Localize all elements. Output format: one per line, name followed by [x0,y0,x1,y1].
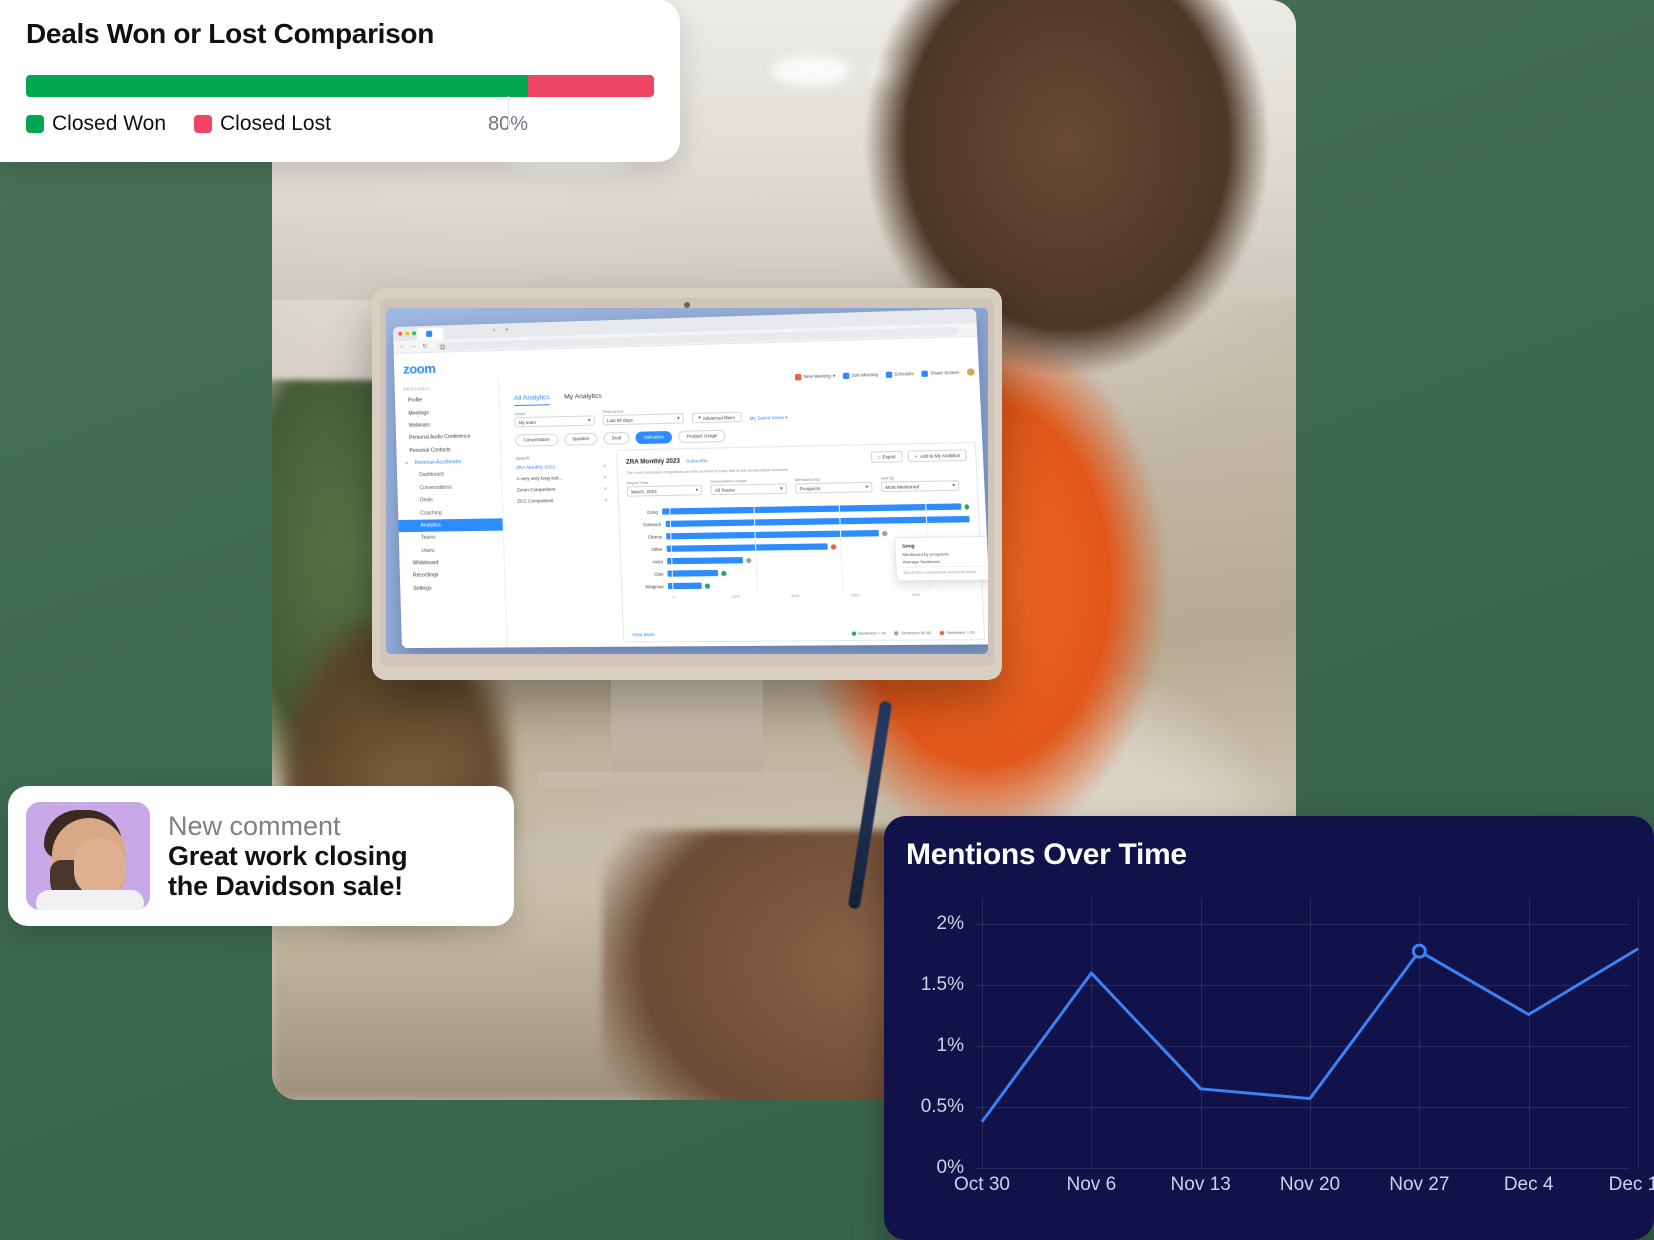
schedule-button[interactable]: Schedule [885,370,914,377]
search-item-zra-monthly[interactable]: ZRA Monthly 2023 ✕ [516,463,611,470]
search-item-label: ZCC Competitors [517,498,553,504]
chevron-down-icon: ▾ [677,415,680,421]
bar-label: Wingman [630,583,668,589]
closed-won-segment [26,75,528,97]
search-item-label: A very very long indi... [516,475,562,481]
sentiment-dot [964,504,969,509]
minimize-icon[interactable] [405,331,409,335]
search-heading: Search [516,454,611,461]
report-time-value: March, 2023 [631,488,657,494]
subscribe-button[interactable]: Subscribe [686,458,708,464]
legend-label: Sentiment < 40 [858,631,886,635]
calendar-icon [885,371,892,377]
sidebar-item-recordings[interactable]: Recordings [400,569,505,583]
sort-by-select[interactable]: Most Mentioned ▾ [881,480,960,492]
xtick: 30% [851,593,912,598]
share-screen-button[interactable]: Share Screen [921,369,959,376]
mentions-plot: 0%0.5%1%1.5%2% Oct 30Nov 6Nov 13Nov 20No… [906,898,1636,1208]
deals-legend: Closed Won Closed Lost 80% [26,112,654,136]
comment-line-2: the Davidson sale! [168,871,407,901]
monitor: × + ← → ↻ zoom PERSONAL Pr [372,288,1002,680]
advanced-filters-button[interactable]: ▾ Advanced filters [692,412,741,423]
zoom-logo: zoom [403,361,436,377]
mentions-over-time-card: Mentions Over Time 0%0.5%1%1.5%2% Oct 30… [884,816,1654,1240]
search-item-long[interactable]: A very very long indi... ✕ [516,474,611,481]
export-icon: □ [878,454,881,459]
conversation-scope-filter: Conversation Scope All Teams ▾ [710,478,787,495]
bar-label: Clari [630,571,668,577]
legend-item: Sentiment > 60 [940,630,975,635]
chevron-down-icon: ▾ [780,486,783,492]
tooltip-row-mentioned: Mentioned by prospects 37% [902,550,988,557]
search-item-label: Zoom Competitors [517,487,556,493]
filter-icon: ▾ [698,415,701,421]
close-icon[interactable]: ✕ [604,486,608,491]
bar-tooltip: Gong Mentioned by prospects 37% Average … [894,535,988,581]
legend-label-won: Closed Won [52,112,166,136]
lock-icon [440,344,444,349]
deals-tick-line [508,96,509,136]
plus-icon [843,372,850,378]
window-controls[interactable] [398,331,416,336]
tooltip-row-sentiment: Average Sentiment 85 [903,558,988,565]
y-tick-label: 1% [937,1035,964,1057]
my-saved-views-button[interactable]: My Saved Views ▾ [750,415,788,422]
time-period-filter: Time period Last 90 days ▾ [602,408,684,425]
chip-product-usage[interactable]: Product Usage [678,430,726,443]
time-period-value: Last 90 days [607,417,633,423]
highlighted-data-point[interactable] [1413,945,1425,957]
report-time-select[interactable]: March, 2023 ▾ [627,485,703,497]
star-icon: ★ [914,454,918,459]
legend-item: Sentiment 40-60 [894,630,931,635]
tab-close-icon[interactable]: × [492,328,495,334]
x-tick-label: Nov 27 [1389,1174,1449,1196]
chip-speaker[interactable]: Speaker [564,433,598,446]
y-tick-label: 2% [937,913,964,935]
sidebar: PERSONAL Profile Meetings Webinars Perso… [395,379,508,648]
x-tick-label: Dec 4 [1504,1174,1554,1196]
x-tick-label: Nov 20 [1280,1174,1340,1196]
sentiment-dot [721,570,726,575]
my-saved-views-label: My Saved Views [750,415,784,421]
chevron-down-icon: ▾ [866,484,869,490]
app-topbar: New Meeting ▾ Join Meeting Schedule [795,368,975,380]
export-label: Export [882,454,895,460]
x-axis-labels: Oct 30Nov 6Nov 13Nov 20Nov 27Dec 4Dec 11 [976,1174,1630,1204]
tab-favicon [426,331,432,337]
comment-line-1: Great work closing [168,841,407,871]
bar-chart-xaxis: 0 10% 20% 30% 40% [673,592,974,599]
report-time-filter: Report Time March, 2023 ▾ [627,480,703,497]
export-button[interactable]: □ Export [871,451,902,463]
chip-indicators[interactable]: Indicators [636,431,673,444]
mentioned-by-select[interactable]: Prospects ▾ [795,482,873,494]
legend-label: Sentiment 40-60 [901,630,932,634]
avatar [26,802,150,910]
competitor-bar-chart: Gong Outreach Chorus [628,500,974,605]
x-tick-label: Oct 30 [954,1174,1010,1196]
new-tab-icon[interactable]: + [505,326,509,333]
sentiment-dot [746,557,752,562]
conversation-scope-value: All Teams [715,487,735,493]
sort-by-value: Most Mentioned [885,484,919,490]
sentiment-dot [705,583,710,588]
sort-by-filter: Sort By Most Mentioned ▾ [881,475,960,492]
forward-icon[interactable]: → [410,343,416,349]
scope-select[interactable]: My team ▾ [515,415,595,427]
chip-conversation[interactable]: Conversation [515,434,558,447]
x-tick-label: Nov 13 [1171,1174,1231,1196]
comment-kicker: New comment [168,811,407,841]
avatar-face [74,838,126,896]
y-axis-labels: 0%0.5%1%1.5%2% [906,898,972,1168]
search-item-zoom-competitors[interactable]: Zoom Competitors ✕ [517,486,612,493]
mentions-chart-title: Mentions Over Time [906,838,1636,872]
comment-text: New comment Great work closing the David… [168,811,407,902]
share-screen-label: Share Screen [930,370,959,376]
chevron-down-icon[interactable]: ▾ [833,373,836,379]
filter-row: Scope My team ▾ Time period Las [514,405,787,427]
search-item-zcc-competitors[interactable]: ZCC Competitors ✕ [517,497,612,504]
chevron-down-icon: ▾ [406,460,408,465]
video-icon [795,373,802,379]
mentions-line-series [976,898,1654,1170]
tooltip-note: Out of 200 conversations across all team… [903,565,988,575]
monitor-screen: × + ← → ↻ zoom PERSONAL Pr [386,308,988,654]
sidebar-group-label: Revenue Accelerator [415,459,462,466]
tooltip-row-label: Mentioned by prospects [902,551,948,557]
mentioned-by-value: Prospects [799,485,820,491]
bar-label: Gong [628,509,662,515]
y-tick-label: 0.5% [921,1096,964,1118]
xtick: 0 [673,595,732,600]
bar-label: Other [629,546,667,552]
xtick: 20% [791,594,851,599]
bar-label: Aviso [629,559,667,565]
new-meeting-label: New Meeting [803,373,831,379]
back-icon[interactable]: ← [399,344,405,350]
xtick: 10% [732,594,792,599]
line-path [982,949,1638,1122]
report-panel: ZRA Monthly 2023 Subscribe □ Export [616,442,985,643]
tooltip-title: Gong [902,542,988,549]
chevron-down-icon: ▾ [696,487,699,493]
deals-progress-bar [26,75,654,97]
search-item-label: ZRA Monthly 2023 [516,464,555,470]
schedule-label: Schedule [894,371,914,377]
maximize-icon[interactable] [412,331,416,335]
analytics-tabs: All Analytics My Analytics [514,393,602,406]
x-tick-label: Dec 11 [1609,1174,1654,1196]
category-chips: Conversation Speaker Deal Indicators Pro… [515,430,726,447]
join-meeting-button[interactable]: Join Meeting [843,371,879,378]
xtick: 40% [912,592,973,597]
new-meeting-button[interactable]: New Meeting ▾ [795,373,836,380]
legend-swatch [894,631,899,635]
zoom-web-app: zoom PERSONAL Profile Meetings Webinars … [394,337,988,648]
bar-label: Outreach [628,521,665,527]
new-comment-card[interactable]: New comment Great work closing the David… [8,786,514,926]
sentiment-dot [831,544,837,549]
close-icon[interactable]: ✕ [604,497,608,502]
y-tick-label: 1.5% [921,974,964,996]
main-content: New Meeting ▾ Join Meeting Schedule [499,366,988,647]
chevron-down-icon: ▾ [952,482,955,488]
legend-swatch-lost [194,115,212,133]
legend-label: Sentiment > 60 [947,630,975,634]
sentiment-dot [882,530,888,535]
saved-search-list: Search ZRA Monthly 2023 ✕ A very very lo… [516,454,612,510]
screen-share-icon [921,370,928,376]
time-period-select[interactable]: Last 90 days ▾ [603,413,684,425]
closed-lost-segment [528,75,654,97]
page-root: × + ← → ↻ zoom PERSONAL Pr [0,0,1654,1240]
legend-closed-lost: Closed Lost [194,112,331,136]
mentioned-by-filter: Mentioned By Prospects ▾ [795,477,873,494]
avatar[interactable] [967,368,975,376]
add-to-label: Add to My Analytics [920,453,960,459]
bar-label: Chorus [629,534,667,540]
advanced-filters-label: Advanced filters [703,415,735,421]
browser-window: × + ← → ↻ zoom PERSONAL Pr [393,308,988,648]
chevron-down-icon: ▾ [588,417,590,423]
scope-filter: Scope My team ▾ [514,410,594,427]
tab-my-analytics[interactable]: My Analytics [564,393,602,405]
panel-footer: View More Sentiment < 40 Sentiment 40-60… [632,630,975,638]
add-to-my-analytics-button[interactable]: ★ Add to My Analytics [907,449,967,462]
chip-deal[interactable]: Deal [603,432,629,445]
sentiment-legend: Sentiment < 40 Sentiment 40-60 Sentiment… [852,630,976,635]
deals-comparison-card: Deals Won or Lost Comparison Closed Won … [0,0,680,162]
conversation-scope-select[interactable]: All Teams ▾ [710,483,787,495]
report-actions: □ Export ★ Add to My Analytics [871,449,967,463]
legend-item: Sentiment < 40 [852,631,886,635]
reload-icon[interactable]: ↻ [422,343,427,350]
tooltip-row-label: Average Sentiment [903,559,940,565]
view-more-link[interactable]: View More [632,632,655,637]
avatar-shirt [36,890,144,910]
tab-all-analytics[interactable]: All Analytics [514,394,550,406]
x-tick-label: Nov 6 [1067,1174,1117,1196]
report-title: ZRA Monthly 2023 [626,458,680,465]
close-icon[interactable]: ✕ [603,463,607,468]
join-meeting-label: Join Meeting [851,372,878,378]
sidebar-item-settings[interactable]: Settings [400,581,505,595]
close-icon[interactable] [398,332,402,336]
deals-card-title: Deals Won or Lost Comparison [26,18,654,50]
legend-swatch-won [26,115,44,133]
legend-closed-won: Closed Won [26,112,166,136]
legend-label-lost: Closed Lost [220,112,331,136]
close-icon[interactable]: ✕ [603,474,607,479]
sidebar-group-revenue-accelerator[interactable]: ▾ Revenue Accelerator [397,455,501,470]
legend-swatch [852,631,857,635]
scope-value: My team [519,419,536,424]
legend-swatch [940,630,945,634]
